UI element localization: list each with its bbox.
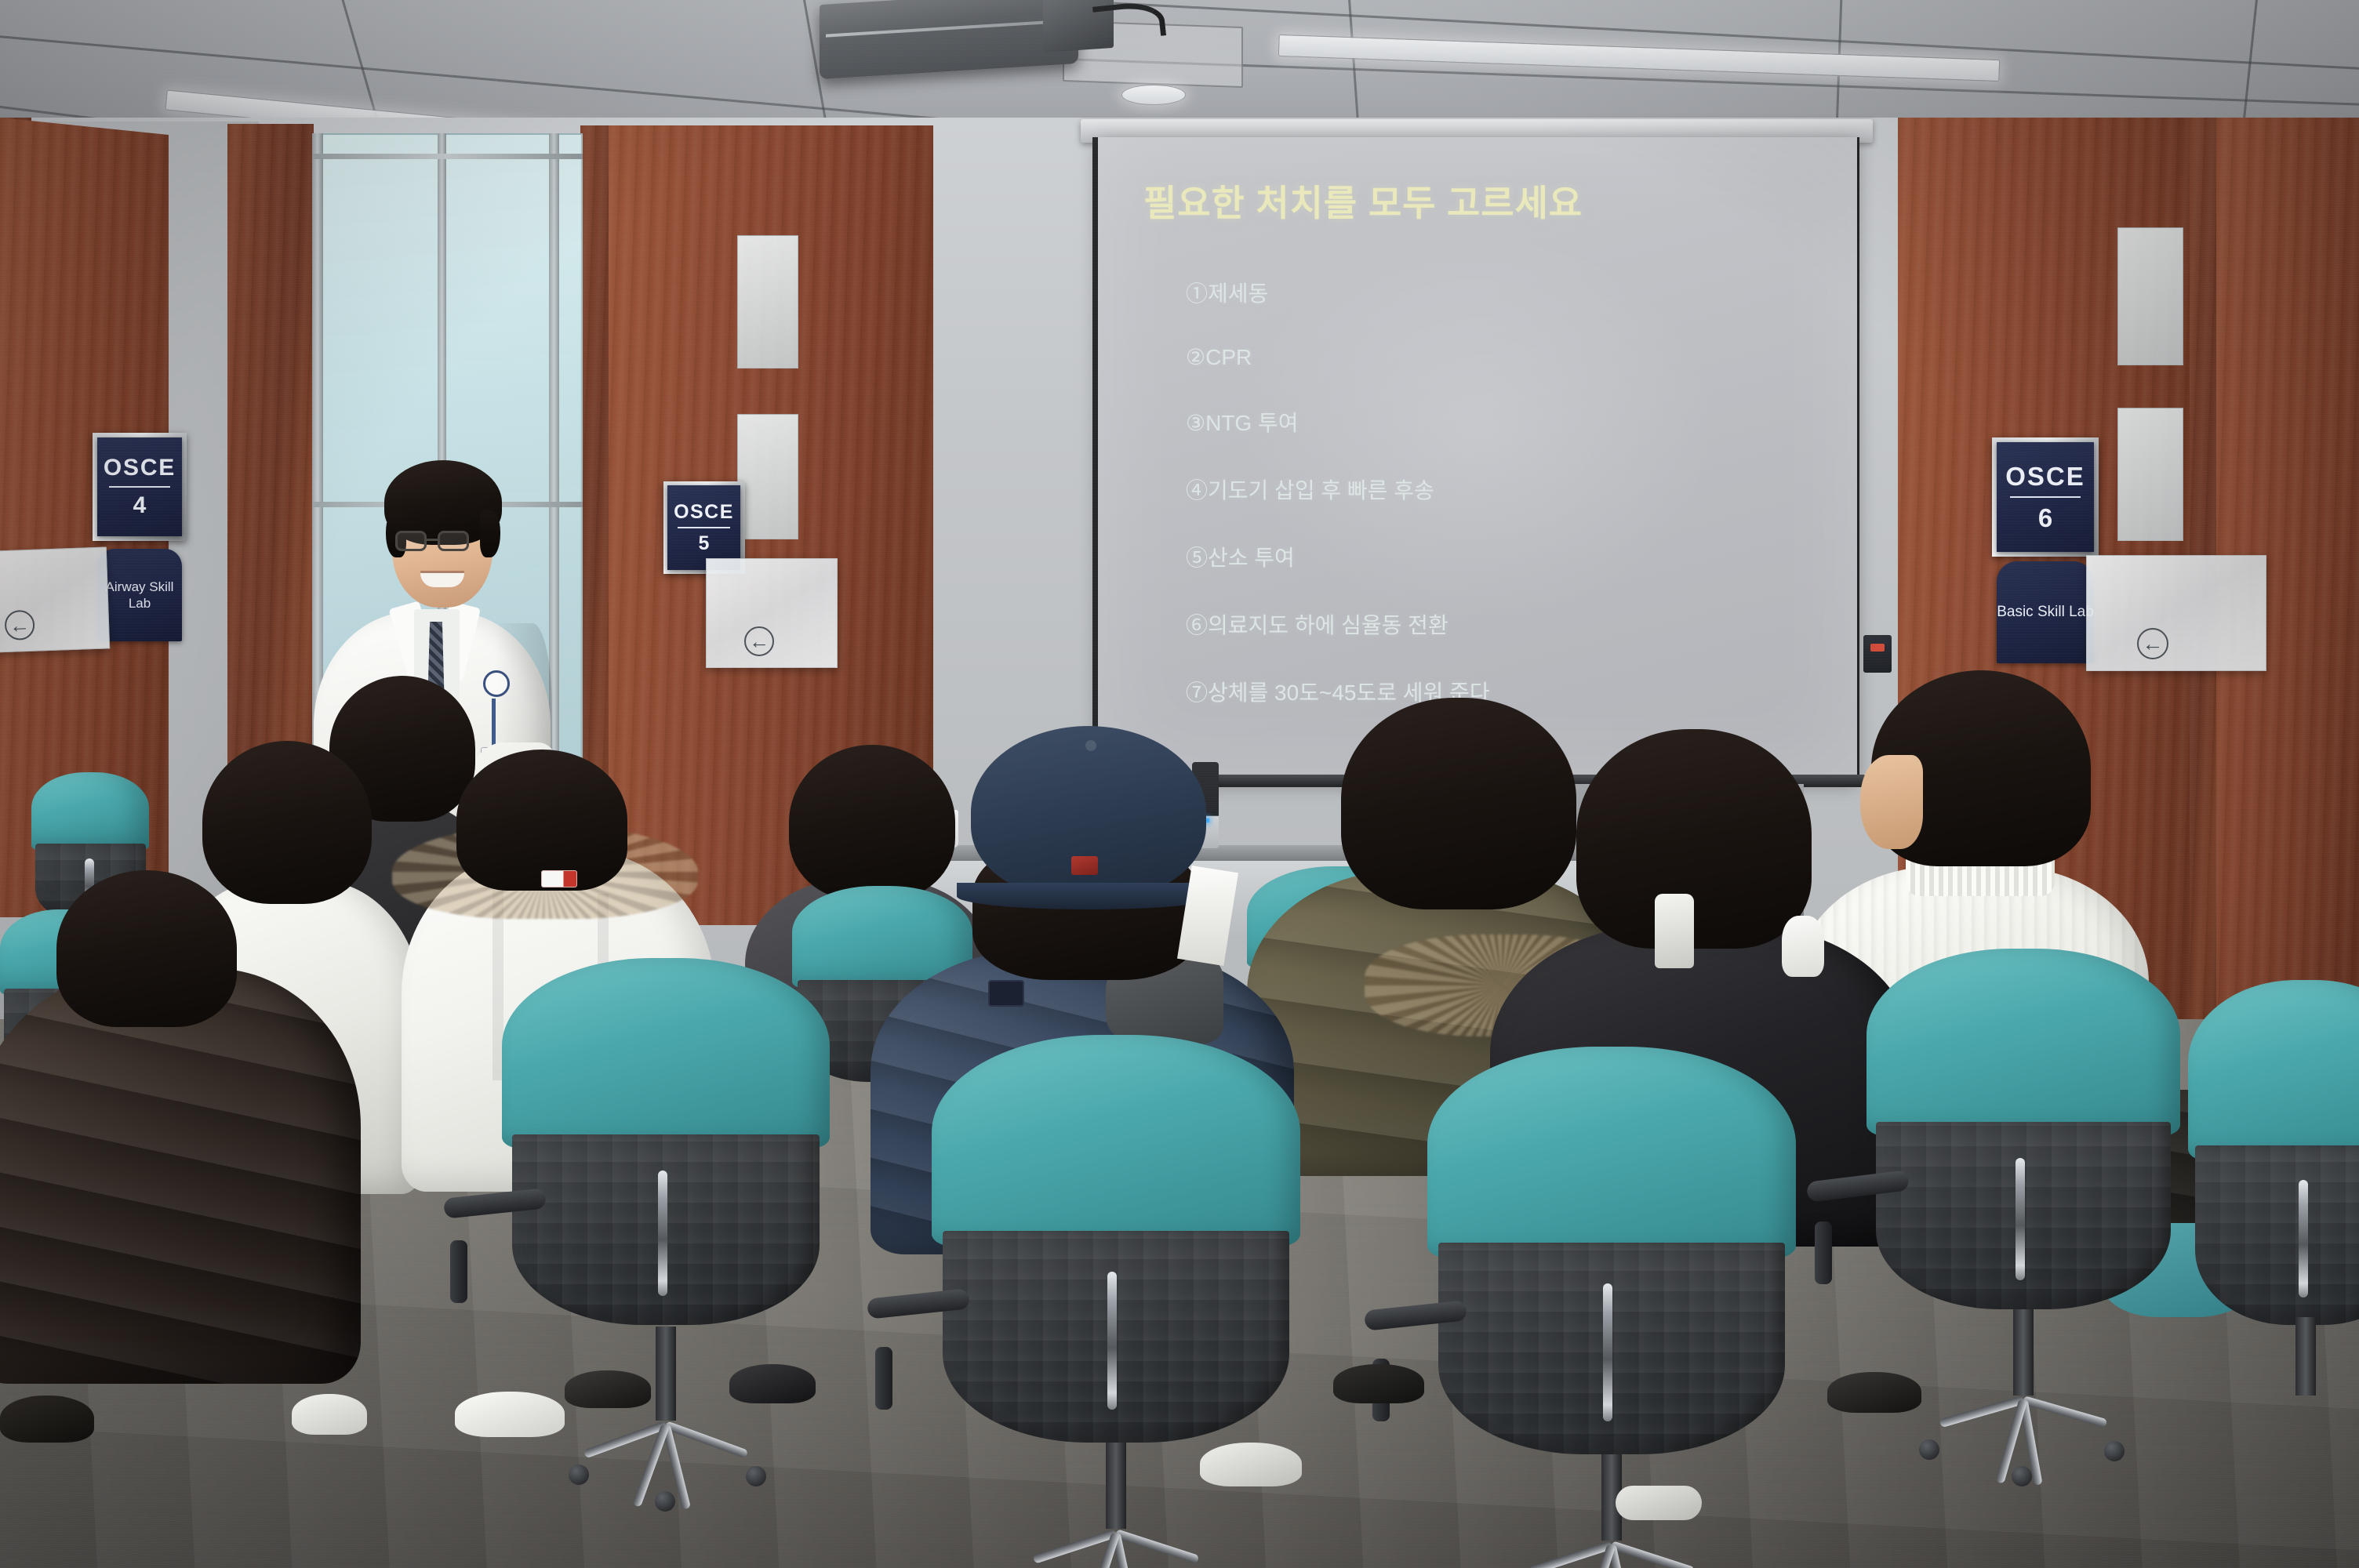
chair-front-1-base xyxy=(533,1413,799,1499)
slide-item-1: ①제세동 xyxy=(1186,277,1845,308)
chair-front-1[interactable] xyxy=(502,958,830,1325)
chair-front-3-base xyxy=(1467,1533,1757,1568)
student-4-hair xyxy=(456,750,627,891)
osce6-label: OSCE xyxy=(2005,463,2085,489)
room-sign-basic-skill-lab: Basic Skill Lab xyxy=(1997,561,2094,663)
slide-item-2: ②CPR xyxy=(1186,344,1845,370)
wayfinding-plaque-right: ← xyxy=(2086,555,2266,671)
ceiling-dome-light xyxy=(1121,85,1186,105)
osce5-label: OSCE xyxy=(674,503,734,522)
student-6-baseball-cap xyxy=(971,726,1206,898)
osce5-divider xyxy=(678,527,730,528)
slide-item-4: ④기도기 삽입 후 빠른 후송 xyxy=(1186,474,1845,505)
shoe-6-sneaker xyxy=(1200,1443,1302,1486)
shoe-7 xyxy=(1333,1364,1424,1403)
lecture-room-photo: OSCE 4 Airway Skill Lab OSCE 5 OSCE 6 Ba… xyxy=(0,0,2359,1568)
wayfinding-plaque-left: ← xyxy=(0,546,110,652)
projection-screen: 필요한 처치를 모두 고르세요 ①제세동 ②CPR ③NTG 투여 ④기도기 삽… xyxy=(1098,137,1857,780)
chair-front-3[interactable] xyxy=(1427,1047,1796,1454)
arrow-glyph-right: ← xyxy=(2143,632,2164,656)
slide-title: 필요한 처치를 모두 고르세요 xyxy=(1143,175,1818,227)
osce5-number: 5 xyxy=(699,534,710,554)
slide-bullet-list: ①제세동 ②CPR ③NTG 투여 ④기도기 삽입 후 빠른 후송 ⑤산소 투여… xyxy=(1186,277,1845,743)
student-1-hair xyxy=(56,870,237,1027)
door-inset-center-lower xyxy=(737,414,798,539)
cap-logo-icon xyxy=(1071,856,1098,875)
shoe-4 xyxy=(565,1370,651,1408)
slide-item-6: ⑥의료지도 하에 심율동 전환 xyxy=(1186,608,1845,640)
ceiling-strip-light xyxy=(1278,34,2000,82)
shoe-8 xyxy=(1827,1372,1921,1413)
chair-front-4[interactable] xyxy=(1866,949,2180,1309)
chair-front-2-base xyxy=(971,1521,1261,1568)
arrow-left-circle-icon-center: ← xyxy=(744,626,774,656)
instructor-glasses xyxy=(395,531,493,554)
student-8-collar xyxy=(1782,916,1824,977)
slide-item-5: ⑤산소 투여 xyxy=(1186,541,1845,572)
chair-front-5[interactable] xyxy=(2188,980,2359,1325)
door-inset-right-lower xyxy=(2117,408,2183,541)
room-sign-osce-4: OSCE 4 xyxy=(97,437,182,536)
door-inset-right xyxy=(2117,227,2183,365)
arrow-left-circle-icon-right: ← xyxy=(2137,628,2168,659)
glass-rail-top xyxy=(312,154,583,159)
wayfinding-plaque-center: ← xyxy=(706,558,838,668)
osce6-number: 6 xyxy=(2038,505,2052,531)
shoe-2 xyxy=(292,1394,367,1435)
chair-front-2[interactable] xyxy=(932,1035,1300,1443)
osce4-label: OSCE xyxy=(104,456,176,480)
shoe-5 xyxy=(729,1364,816,1403)
room-sign-osce-6: OSCE 6 xyxy=(1997,442,2094,552)
room-sign-osce-5: OSCE 5 xyxy=(667,485,740,570)
student-2-hair xyxy=(202,741,372,904)
student-4-brand-tag xyxy=(541,870,577,887)
door-inset-center xyxy=(737,235,798,368)
room-sign-airway-skill-lab: Airway Skill Lab xyxy=(97,549,182,641)
person-student-1 xyxy=(0,886,376,1388)
airway-lab-label: Airway Skill Lab xyxy=(97,579,182,612)
student-8-hair xyxy=(1576,729,1812,949)
arrow-left-circle-icon: ← xyxy=(4,610,35,641)
chair-front-4-base xyxy=(1894,1388,2153,1475)
osce6-divider xyxy=(2010,496,2080,498)
shoe-3-sneaker xyxy=(455,1392,565,1437)
cap-brim xyxy=(957,883,1220,909)
mlb-logo-icon xyxy=(988,980,1024,1007)
arrow-glyph-center: ← xyxy=(749,630,769,654)
wall-control-panel[interactable] xyxy=(1863,635,1892,673)
floor-item-bottle xyxy=(1616,1486,1702,1520)
arrow-glyph-left: ← xyxy=(9,612,31,637)
slide-item-7: ⑦상체를 30도~45도로 세워 준다 xyxy=(1186,676,1845,707)
osce4-number: 4 xyxy=(133,494,147,517)
student-1-puffer-jacket xyxy=(0,968,361,1384)
slide-item-3: ③NTG 투여 xyxy=(1186,406,1845,437)
water-bottle xyxy=(1655,894,1694,968)
osce4-divider xyxy=(109,486,170,488)
shoe-1 xyxy=(0,1396,94,1443)
basic-lab-label: Basic Skill Lab xyxy=(1997,603,2094,622)
